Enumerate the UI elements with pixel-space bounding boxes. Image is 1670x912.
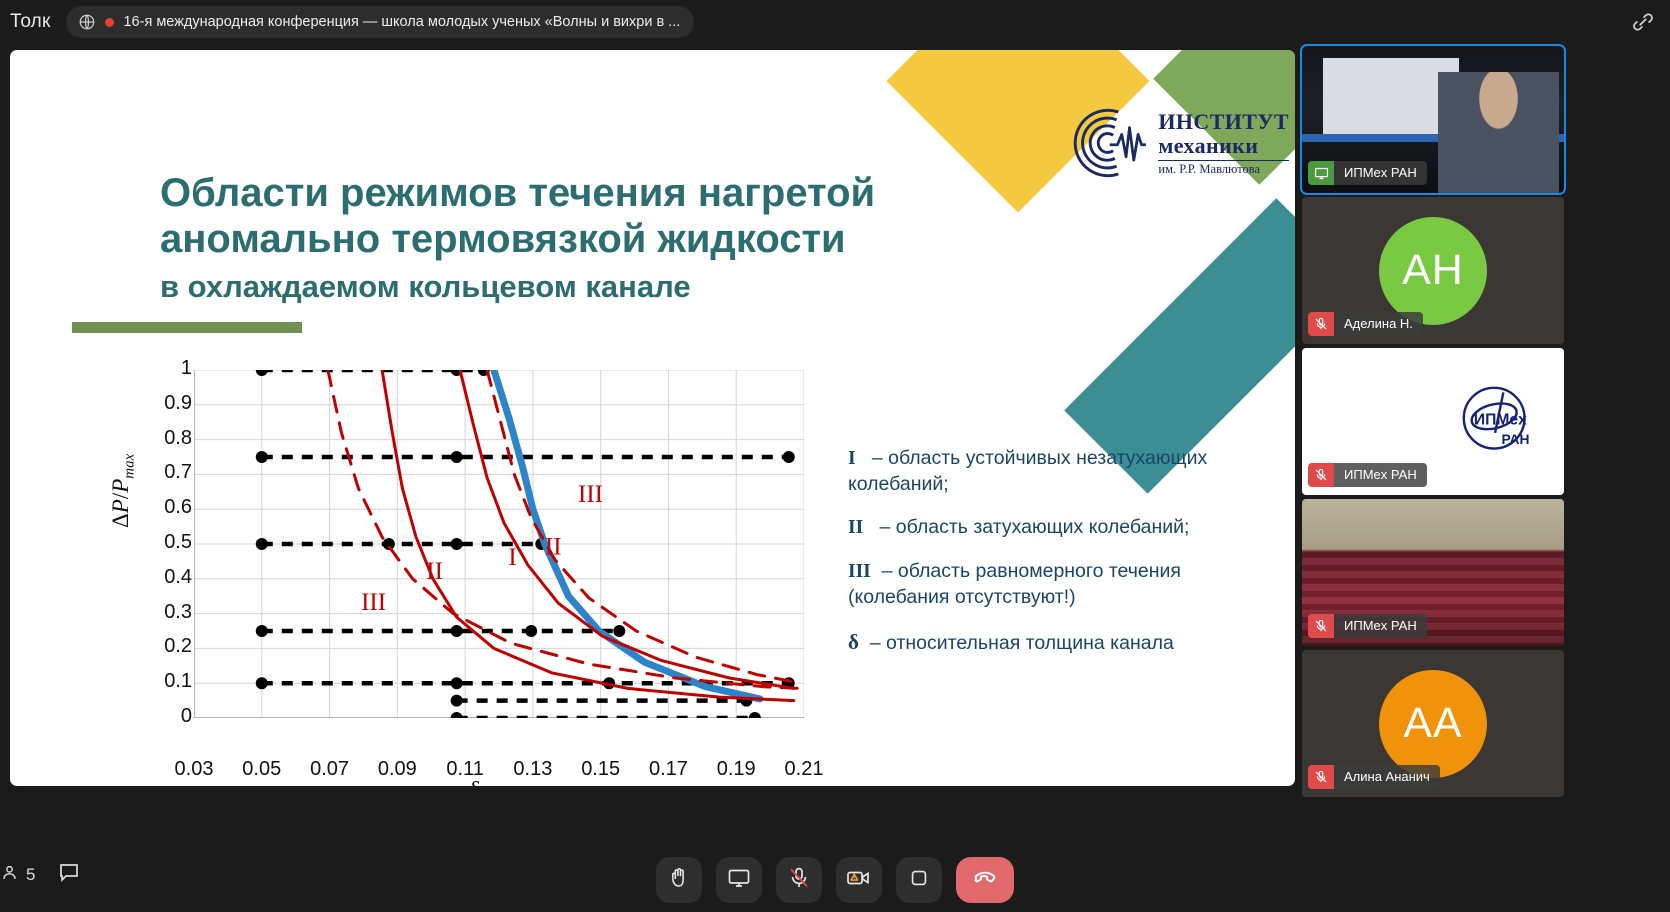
region-label: II (426, 558, 443, 585)
participant-tile-4[interactable]: АА Алина Ананич (1302, 650, 1564, 797)
chart-y-ticks: 00.10.20.30.40.50.60.70.80.91 (130, 360, 192, 770)
participant-name-4: Алина Ананич (1334, 765, 1440, 789)
participant-tile-2[interactable]: ИПМex РАН ИПМex РАН (1302, 348, 1564, 495)
legend-item-0: I – область устойчивых незатухающих коле… (848, 446, 1268, 497)
data-point-marker (451, 677, 463, 689)
camera-button[interactable] (836, 857, 882, 903)
participant-namebar-3: ИПМex РАН (1308, 614, 1427, 638)
y-tick-label: 0.9 (140, 392, 192, 415)
slide-title-line-1: Области режимов течения нагретой (160, 170, 1060, 216)
legend-dash-1: – (879, 516, 890, 538)
legend-item-3: δ – относительная толщина канала (848, 629, 1268, 657)
avatar-4: АА (1379, 670, 1487, 778)
avatar-1: АН (1379, 217, 1487, 325)
participant-name-3: ИПМex РАН (1334, 614, 1427, 638)
globe-icon (78, 13, 96, 31)
participant-namebar-4: Алина Ананич (1308, 765, 1440, 789)
chart-x-axis-label: δ (110, 778, 840, 786)
institute-logo-text: ИНСТИТУТ механики им. Р.Р. Мавлютова (1158, 111, 1289, 176)
screen-share-icon (1308, 161, 1334, 185)
region-label: I (508, 544, 516, 571)
slide-title-line-3: в охлаждаемом кольцевом канале (160, 266, 1060, 308)
link-icon[interactable] (1630, 9, 1656, 35)
legend-dash-0: – (872, 447, 883, 469)
phone-hangup-icon (972, 865, 998, 896)
meeting-controls[interactable] (656, 857, 1014, 903)
avatar-initials-4: АА (1403, 699, 1462, 748)
participant-count: 5 (26, 865, 35, 885)
logo-line-1: ИНСТИТУТ (1158, 111, 1289, 133)
legend-text-0: область устойчивых незатухающих колебани… (848, 447, 1207, 495)
participant-name-2: ИПМex РАН (1334, 463, 1427, 487)
regimes-chart: ΔP/Pmax 00.10.20.30.40.50.60.70.80.91 II… (110, 360, 840, 770)
y-tick-label: 0.6 (140, 496, 192, 519)
legend-item-1: II – область затухающих колебаний; (848, 515, 1268, 541)
app-brand-label: Толк (2, 11, 50, 33)
logo-line-3: им. Р.Р. Мавлютова (1158, 160, 1289, 176)
y-tick-label: 0.7 (140, 461, 192, 484)
region-label: II (545, 533, 562, 560)
series-red-solid-inner (382, 370, 794, 701)
participant-namebar-2: ИПМex РАН (1308, 463, 1427, 487)
data-point-marker (451, 695, 463, 707)
raise-hand-button[interactable] (656, 857, 702, 903)
legend-item-2: III – область равномерного течения (коле… (848, 559, 1268, 610)
people-icon (0, 863, 19, 887)
meeting-app-window: Толк 16-я международная конференция — шк… (0, 0, 1670, 912)
legend-dash-2: – (882, 560, 893, 582)
monitor-icon (727, 866, 751, 895)
participant-tile-3[interactable]: ИПМex РАН (1302, 499, 1564, 646)
logo-line-2: механики (1158, 135, 1289, 157)
meeting-title-text: 16-я международная конференция — школа м… (123, 14, 680, 30)
participant-tile-1[interactable]: АН Аделина Н. (1302, 197, 1564, 344)
data-point-marker (451, 625, 463, 637)
data-point-marker (749, 712, 761, 718)
participant-name-1: Аделина Н. (1334, 312, 1423, 336)
meeting-title-chip[interactable]: 16-я международная конференция — школа м… (66, 6, 694, 38)
participant-rail[interactable]: ИПМex РАН АН Аделина Н. ИПМex (1302, 46, 1566, 801)
top-bar: Толк 16-я международная конференция — шк… (0, 0, 1670, 44)
share-screen-button[interactable] (716, 857, 762, 903)
chart-legend-text: I – область устойчивых незатухающих коле… (848, 446, 1268, 674)
data-point-marker (451, 712, 463, 718)
legend-text-2: область равномерного течения (колебания … (848, 560, 1181, 608)
chat-icon[interactable] (57, 860, 81, 889)
mic-muted-icon (1308, 765, 1334, 789)
microphone-button[interactable] (776, 857, 822, 903)
legend-numeral-2: III (848, 561, 871, 582)
institute-logo: ИНСТИТУТ механики им. Р.Р. Мавлютова (1065, 100, 1289, 186)
y-tick-label: 0 (140, 705, 192, 728)
ipmeh-stamp-logo-icon: ИПМex РАН (1450, 374, 1542, 471)
camera-warning-icon (846, 866, 872, 895)
data-point-marker (256, 677, 268, 689)
y-tick-label: 0.2 (140, 635, 192, 658)
data-point-marker (256, 625, 268, 637)
data-point-marker (783, 451, 795, 463)
participant-namebar-1: Аделина Н. (1308, 312, 1423, 336)
recording-dot-icon (105, 18, 114, 27)
shared-slide-stage[interactable]: ИНСТИТУТ механики им. Р.Р. Мавлютова Обл… (10, 50, 1295, 786)
title-underline-bar (72, 322, 302, 333)
y-tick-label: 1 (140, 357, 192, 380)
y-tick-label: 0.3 (140, 601, 192, 624)
legend-text-1: область затухающих колебаний; (896, 516, 1190, 538)
data-point-marker (256, 451, 268, 463)
legend-numeral-1: II (848, 517, 863, 538)
hand-icon (667, 866, 691, 895)
data-point-marker (256, 538, 268, 550)
mic-muted-icon (787, 866, 811, 895)
series-red-dashed-left (328, 370, 801, 688)
mic-muted-icon (1308, 312, 1334, 336)
legend-numeral-0: I (848, 448, 856, 469)
avatar-initials-1: АН (1402, 246, 1464, 295)
end-call-button[interactable] (956, 857, 1014, 903)
data-point-marker (451, 538, 463, 550)
y-tick-label: 0.8 (140, 427, 192, 450)
svg-text:ИПМex: ИПМex (1474, 412, 1527, 429)
y-tick-label: 0.5 (140, 531, 192, 554)
mic-muted-icon (1308, 614, 1334, 638)
participant-tile-0[interactable]: ИПМex РАН (1302, 46, 1564, 193)
mic-muted-icon (1308, 463, 1334, 487)
legend-dash-3: – (870, 632, 881, 654)
participant-name-0: ИПМex РАН (1334, 161, 1427, 185)
y-tick-label: 0.4 (140, 566, 192, 589)
data-point-marker (525, 625, 537, 637)
series-boundary-blue (494, 370, 760, 699)
participant-namebar-0: ИПМex РАН (1308, 161, 1427, 185)
slide-title: Области режимов течения нагретой аномаль… (160, 170, 1060, 308)
bottom-toolbar: 5 (0, 850, 1670, 912)
data-point-marker (613, 625, 625, 637)
slide-title-line-2: аномально термовязкой жидкости (160, 216, 1060, 262)
data-point-marker (256, 370, 268, 376)
y-tick-label: 0.1 (140, 670, 192, 693)
svg-text:РАН: РАН (1502, 432, 1530, 447)
participants-button[interactable]: 5 (0, 863, 35, 887)
region-label: III (578, 481, 603, 508)
institute-waves-logo-icon (1065, 100, 1151, 186)
legend-numeral-3: δ (848, 630, 859, 654)
stop-button[interactable] (896, 857, 942, 903)
legend-text-3: относительная толщина канала (886, 632, 1174, 654)
chart-plot-area: IIIIIIIIIII (194, 370, 804, 718)
data-point-marker (451, 451, 463, 463)
region-label: III (361, 589, 386, 616)
square-icon (908, 867, 930, 894)
